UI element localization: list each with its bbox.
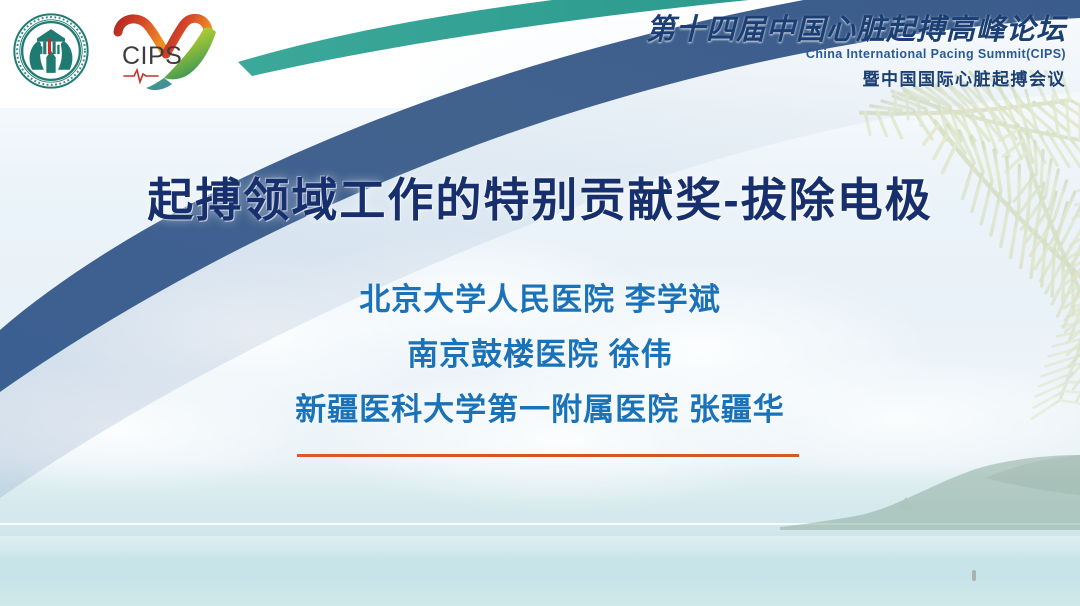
conference-subtitle-cn: 暨中国国际心脏起搏会议	[636, 65, 1066, 90]
swimmer-figure	[972, 570, 976, 581]
presentation-slide: CIPS 第十四届中国心脏起搏高峰论坛 China International …	[0, 0, 1080, 606]
svg-text:CIPS: CIPS	[122, 42, 182, 70]
coastal-headland	[780, 455, 1080, 530]
accent-underline	[297, 454, 799, 457]
conference-title-en: China International Pacing Summit(CIPS)	[636, 47, 1066, 61]
presenter-list: 北京大学人民医院 李学斌 南京鼓楼医院 徐伟 新疆医科大学第一附属医院 张疆华	[0, 284, 1080, 425]
ocean-shimmer	[0, 536, 1080, 562]
slide-main-title: 起搏领域工作的特别贡献奖-拔除电极	[0, 164, 1080, 230]
presenter-line: 北京大学人民医院 李学斌	[0, 284, 1080, 315]
conference-title-cn: 第十四届中国心脏起搏高峰论坛	[636, 14, 1066, 44]
cardiovascular-institute-seal	[12, 12, 90, 90]
cips-heart-logo: CIPS	[108, 6, 228, 98]
presenter-line: 新疆医科大学第一附属医院 张疆华	[0, 394, 1080, 425]
conference-header: 第十四届中国心脏起搏高峰论坛 China International Pacin…	[636, 14, 1066, 90]
logo-plate-fade	[0, 0, 620, 96]
presenter-line: 南京鼓楼医院 徐伟	[0, 339, 1080, 370]
